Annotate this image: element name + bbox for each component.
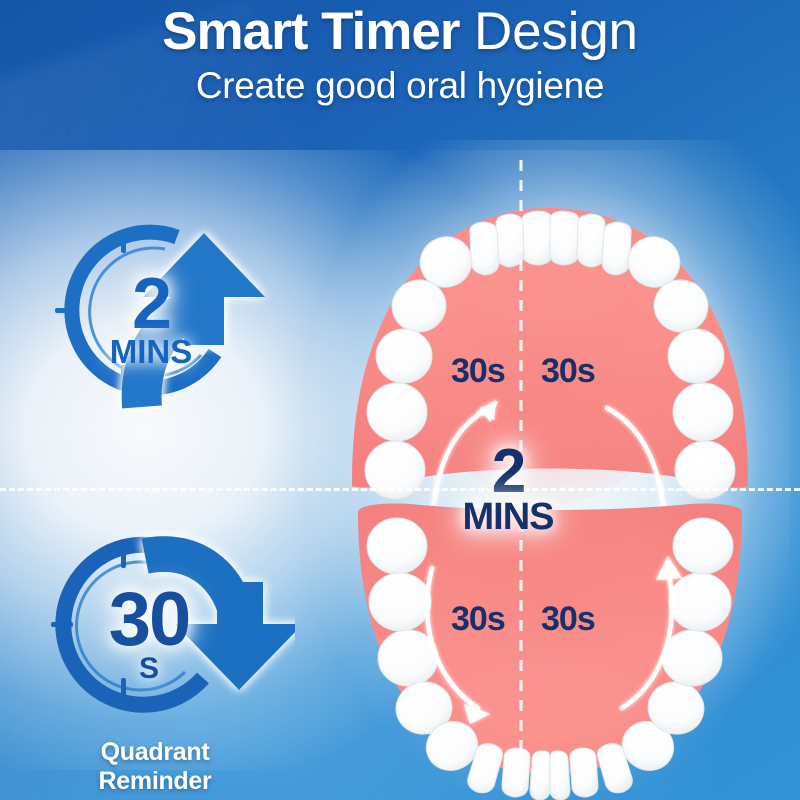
smart-timer-infographic: Smart Timer Design Create good oral hygi… xyxy=(0,0,800,800)
horizontal-divider-dashed-line xyxy=(0,488,800,491)
quadrant-dividers xyxy=(0,0,800,800)
